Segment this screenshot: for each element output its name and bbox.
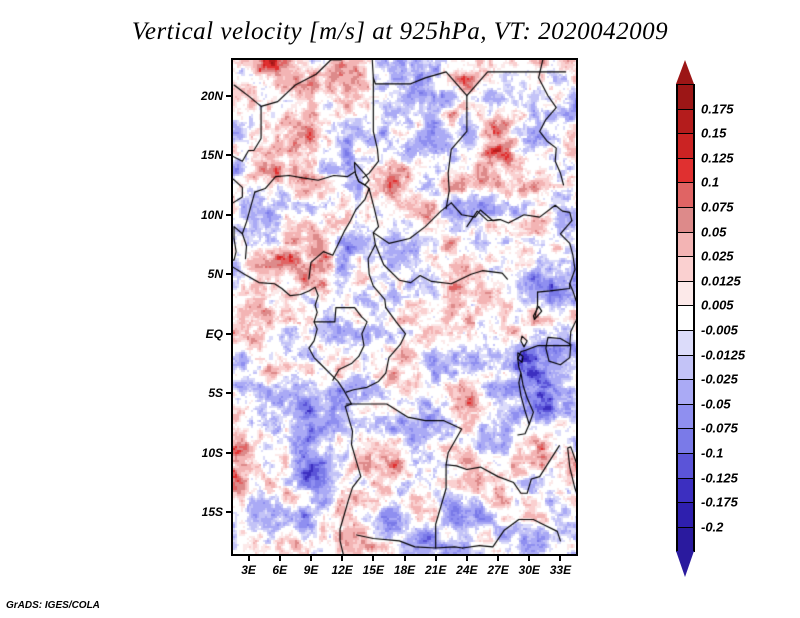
colorbar-segment (676, 404, 695, 430)
longitude-tick-label: 12E (331, 563, 352, 577)
colorbar-tick-label: 0.025 (701, 249, 734, 264)
colorbar-tick-label: 0.075 (701, 200, 734, 215)
colorbar-tick-label: -0.0125 (701, 347, 745, 362)
colorbar-segment (676, 133, 695, 159)
footer-credit: GrADS: IGES/COLA (6, 600, 100, 611)
colorbar-segment (676, 478, 695, 504)
longitude-tick-label: 15E (363, 563, 384, 577)
colorbar-segment (676, 379, 695, 405)
colorbar-segment (676, 256, 695, 282)
colorbar-bottom-arrow-icon (676, 551, 694, 577)
colorbar-top-arrow-icon (676, 60, 694, 84)
latitude-tick-label: EQ (206, 327, 223, 341)
colorbar-tick-label: -0.2 (701, 519, 723, 534)
colorbar-tick-label: 0.05 (701, 224, 726, 239)
colorbar-tick-label: -0.075 (701, 421, 738, 436)
colorbar-tick-label: 0.1 (701, 175, 719, 190)
latitude-tick-label: 15N (201, 148, 223, 162)
latitude-tick-label: 5S (208, 386, 223, 400)
colorbar-tick-label: -0.1 (701, 446, 723, 461)
colorbar-tick-label: -0.05 (701, 396, 731, 411)
colorbar-segment (676, 428, 695, 454)
latitude-tick-label: 5N (208, 267, 223, 281)
longitude-tick-label: 33E (550, 563, 571, 577)
map-plot-area (231, 58, 578, 556)
colorbar (676, 60, 695, 556)
colorbar-tick-label: 0.125 (701, 150, 734, 165)
colorbar-segment (676, 109, 695, 135)
colorbar-segment (676, 355, 695, 381)
colorbar-tick-label: -0.125 (701, 470, 738, 485)
longitude-tick-label: 6E (272, 563, 287, 577)
latitude-tick-label: 15S (202, 505, 223, 519)
vertical-velocity-field (233, 60, 576, 554)
longitude-tick-label: 21E (425, 563, 446, 577)
colorbar-segment (676, 453, 695, 479)
colorbar-tick-label: 0.0125 (701, 273, 741, 288)
latitude-tick-label: 10N (201, 208, 223, 222)
colorbar-segment (676, 281, 695, 307)
colorbar-segment (676, 330, 695, 356)
colorbar-segment (676, 305, 695, 331)
longitude-tick-label: 27E (487, 563, 508, 577)
longitude-tick-label: 18E (394, 563, 415, 577)
page-title: Vertical velocity [m/s] at 925hPa, VT: 2… (0, 18, 800, 46)
colorbar-segment (676, 527, 695, 553)
colorbar-tick-label: -0.175 (701, 495, 738, 510)
longitude-tick-label: 9E (304, 563, 319, 577)
colorbar-tick-label: 0.005 (701, 298, 734, 313)
colorbar-segment (676, 232, 695, 258)
colorbar-tick-label: -0.005 (701, 323, 738, 338)
colorbar-segment (676, 158, 695, 184)
grads-plot-page: Vertical velocity [m/s] at 925hPa, VT: 2… (0, 0, 800, 618)
latitude-tick-label: 10S (202, 446, 223, 460)
colorbar-tick-label: -0.025 (701, 372, 738, 387)
colorbar-segment (676, 502, 695, 528)
colorbar-tick-label: 0.175 (701, 101, 734, 116)
colorbar-segment (676, 84, 695, 110)
colorbar-segment (676, 182, 695, 208)
longitude-tick-label: 3E (241, 563, 256, 577)
latitude-tick-label: 20N (201, 89, 223, 103)
colorbar-tick-label: 0.15 (701, 126, 726, 141)
longitude-tick-label: 24E (456, 563, 477, 577)
colorbar-segment (676, 207, 695, 233)
longitude-tick-label: 30E (519, 563, 540, 577)
